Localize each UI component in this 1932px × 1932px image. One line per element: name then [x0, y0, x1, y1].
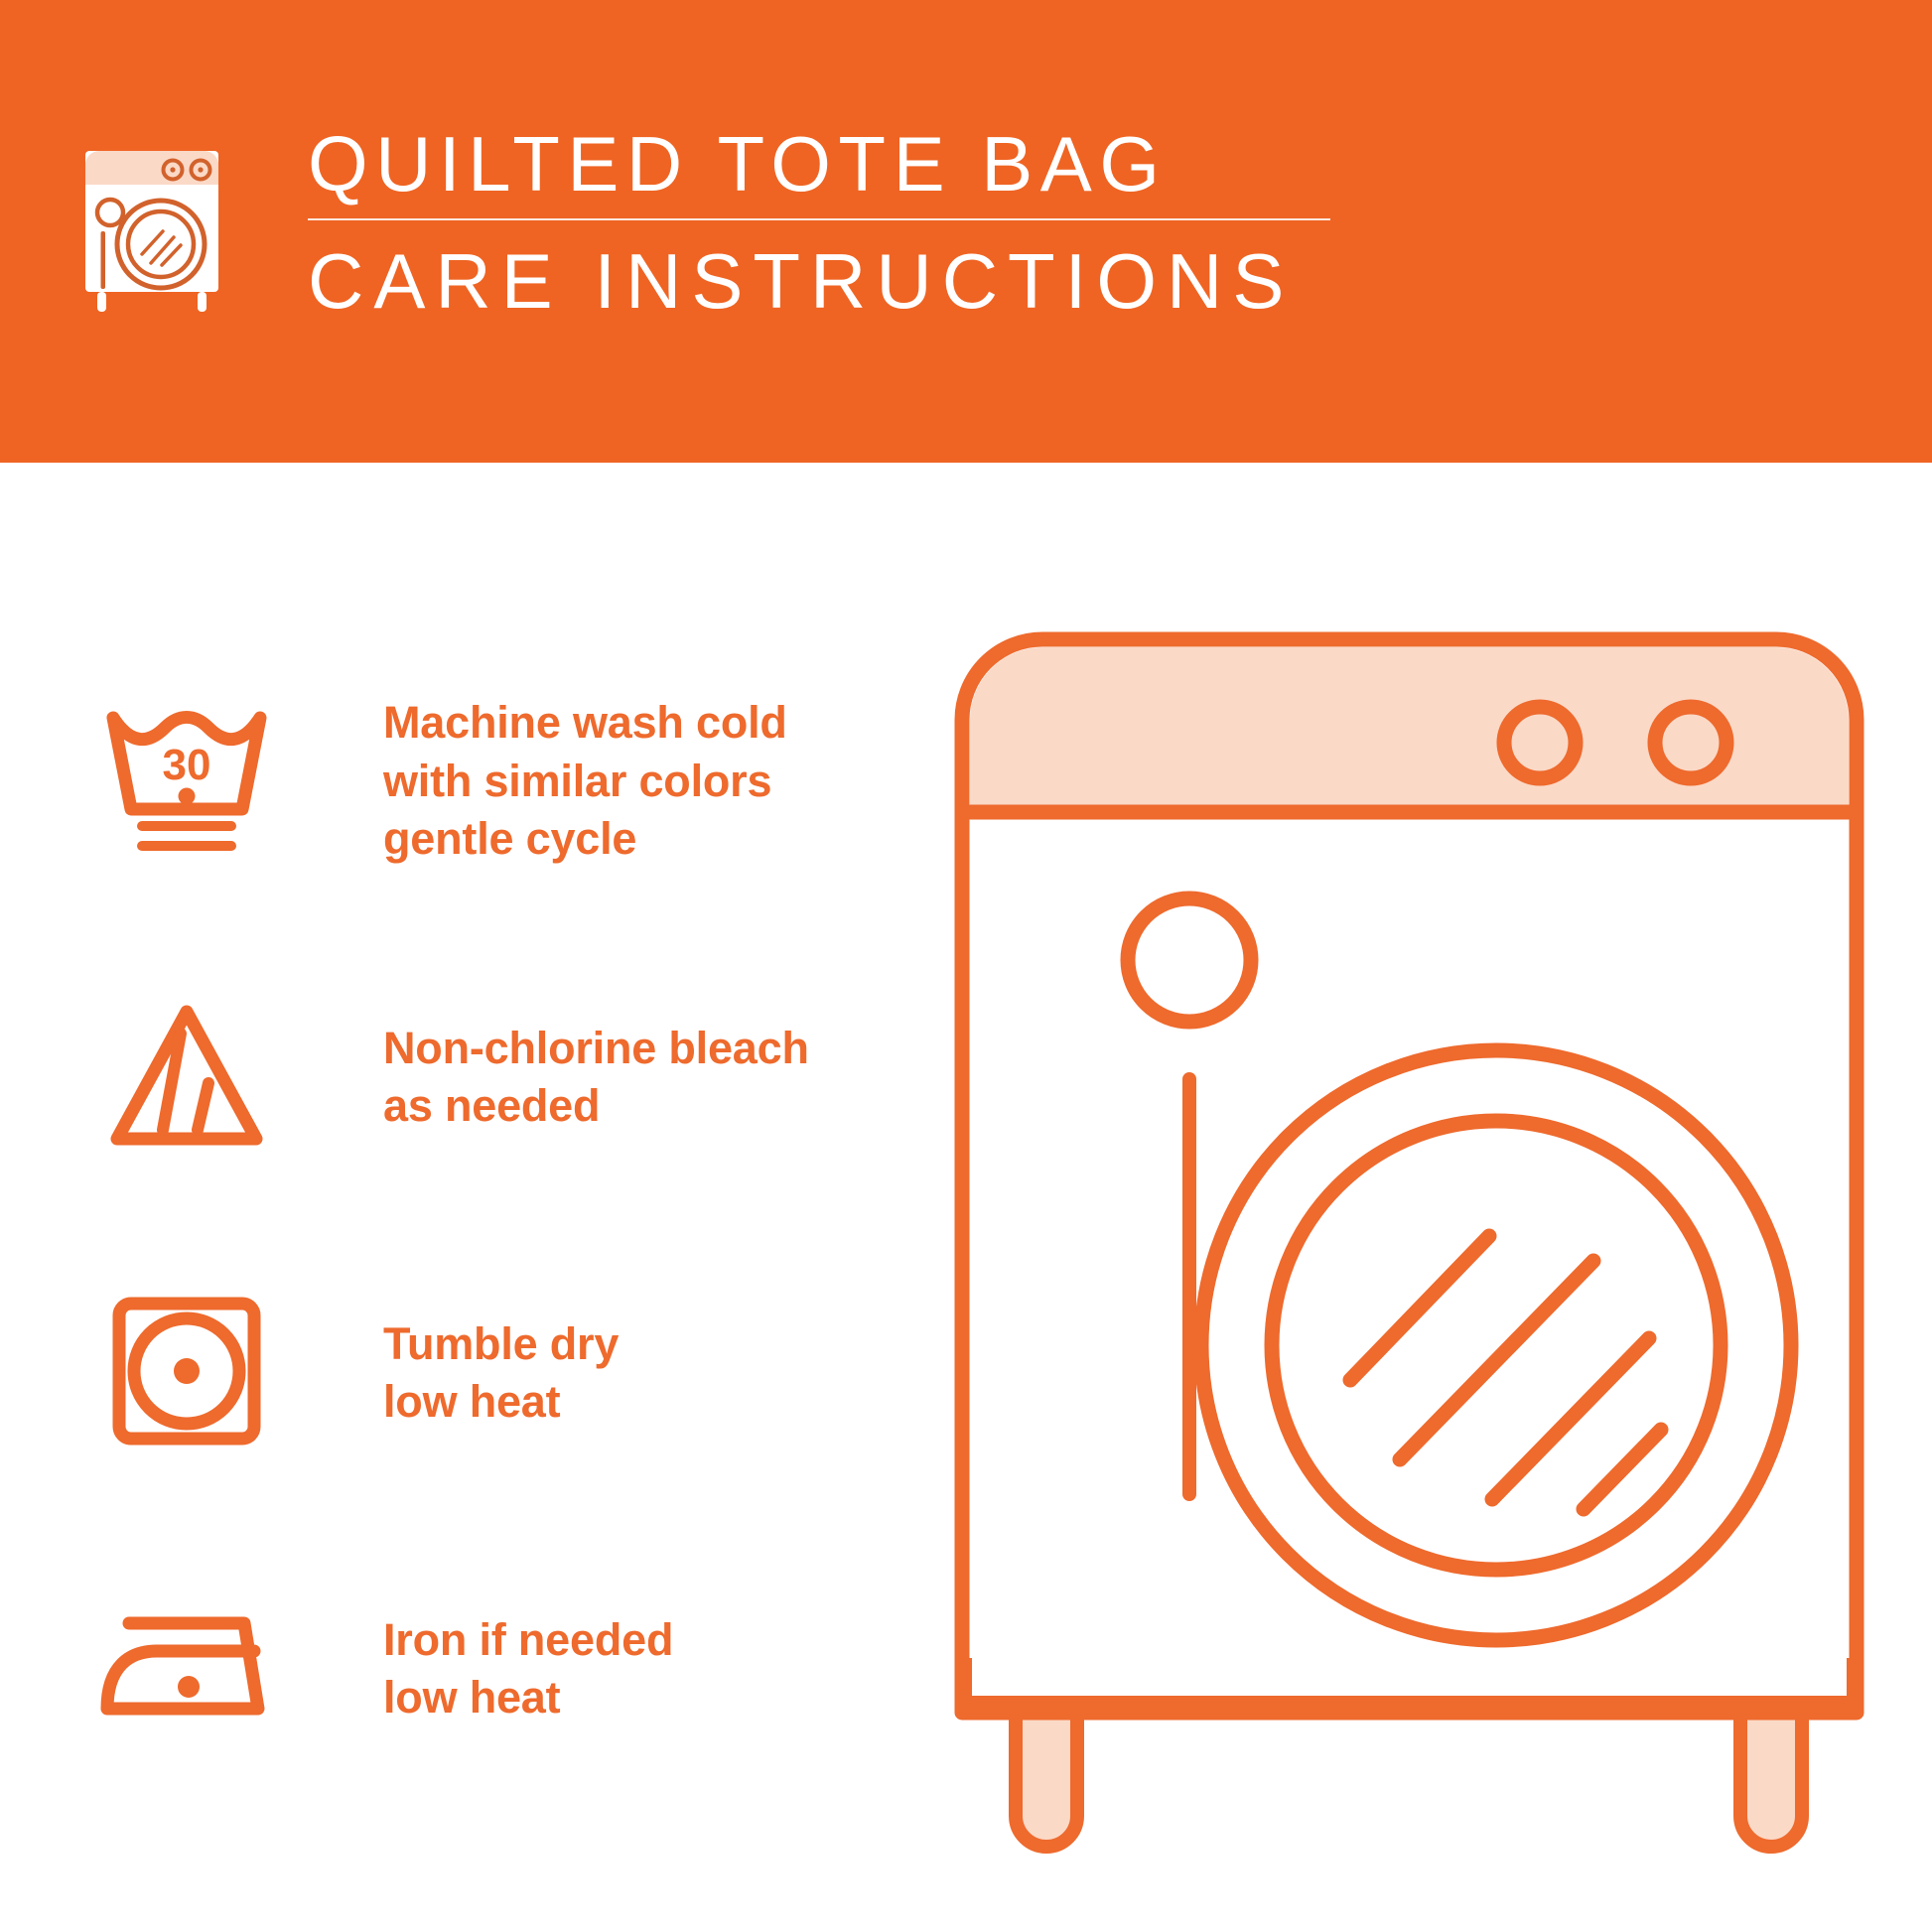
- wash-tub-30-icon: 30: [94, 690, 278, 874]
- iron-low-heat-icon: [94, 1578, 278, 1761]
- care-line: with similar colors: [383, 753, 787, 811]
- care-line: low heat: [383, 1669, 673, 1727]
- care-line: Non-chlorine bleach: [383, 1020, 809, 1078]
- care-instruction-list: 30 Machine wash cold with similar colors…: [94, 667, 918, 1851]
- washer-indicator-light: [1128, 898, 1251, 1022]
- page-title: QUILTED TOTE BAG: [308, 125, 1330, 218]
- washer-handle: [1182, 1072, 1196, 1501]
- page-subtitle: CARE INSTRUCTIONS: [308, 220, 1330, 320]
- care-line: gentle cycle: [383, 810, 787, 869]
- care-item-bleach: Non-chlorine bleach as needed: [94, 963, 918, 1191]
- care-item-label: Tumble dry low heat: [383, 1315, 619, 1432]
- header-banner: QUILTED TOTE BAG CARE INSTRUCTIONS: [0, 0, 1932, 463]
- care-item-machine-wash: 30 Machine wash cold with similar colors…: [94, 667, 918, 896]
- care-line: Machine wash cold: [383, 694, 787, 753]
- care-item-label: Iron if needed low heat: [383, 1611, 673, 1727]
- large-washing-machine-illustration: [948, 625, 1871, 1866]
- care-line: low heat: [383, 1373, 619, 1432]
- non-chlorine-bleach-triangle-icon: [94, 986, 278, 1170]
- care-instructions-poster: QUILTED TOTE BAG CARE INSTRUCTIONS 30 Ma…: [0, 0, 1932, 1932]
- washing-machine-icon: [77, 133, 226, 322]
- care-line: Iron if needed: [383, 1611, 673, 1670]
- tumble-dry-low-icon: [94, 1282, 278, 1465]
- care-item-iron: Iron if needed low heat: [94, 1555, 918, 1783]
- care-item-label: Non-chlorine bleach as needed: [383, 1020, 809, 1136]
- care-item-label: Machine wash cold with similar colors ge…: [383, 694, 787, 869]
- care-line: as needed: [383, 1077, 809, 1136]
- header-content: QUILTED TOTE BAG CARE INSTRUCTIONS: [77, 125, 1330, 322]
- wash-temperature-value: 30: [162, 741, 210, 789]
- care-item-tumble-dry: Tumble dry low heat: [94, 1259, 918, 1487]
- header-title-group: QUILTED TOTE BAG CARE INSTRUCTIONS: [308, 125, 1330, 320]
- care-line: Tumble dry: [383, 1315, 619, 1374]
